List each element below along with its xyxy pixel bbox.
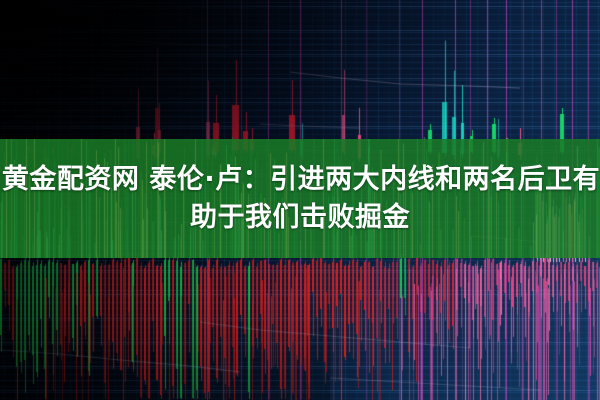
headline-line-2: 助于我们击败掘金 <box>190 199 410 237</box>
headline-line-1: 黄金配资网 泰伦·卢：引进两大内线和两名后卫有 <box>0 161 600 199</box>
promo-banner-image: 黄金配资网 泰伦·卢：引进两大内线和两名后卫有 助于我们击败掘金 <box>0 0 600 400</box>
headline-banner: 黄金配资网 泰伦·卢：引进两大内线和两名后卫有 助于我们击败掘金 <box>0 139 600 258</box>
